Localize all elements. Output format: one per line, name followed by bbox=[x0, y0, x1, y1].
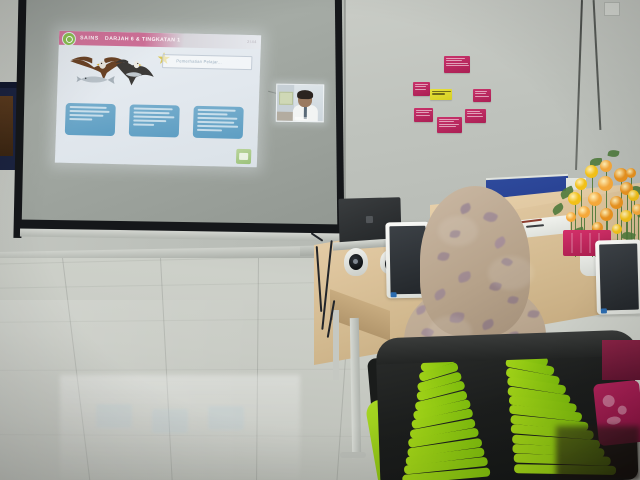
hijab-fold-highlight bbox=[488, 256, 534, 290]
content-line bbox=[197, 125, 238, 128]
note-text-line bbox=[446, 65, 469, 66]
red-storage-box bbox=[602, 340, 640, 380]
monitor-right bbox=[595, 239, 640, 314]
presenter-hair bbox=[297, 90, 313, 99]
slide-content-box-1 bbox=[65, 103, 116, 136]
monitor-badge-icon bbox=[391, 292, 397, 297]
screen-edge-left bbox=[13, 0, 26, 238]
flower-bloom bbox=[566, 212, 576, 222]
flower-bloom bbox=[588, 192, 602, 206]
video-bg-picture-frame bbox=[279, 92, 293, 105]
presenter-video-window bbox=[276, 84, 325, 123]
slide-page-number: 2/44 bbox=[247, 39, 257, 44]
note-text-line bbox=[467, 113, 482, 114]
note-text-line bbox=[416, 115, 430, 116]
note-text-line bbox=[439, 126, 456, 127]
desk-foot bbox=[340, 452, 366, 458]
content-line bbox=[197, 121, 235, 123]
eagles-illustration bbox=[67, 51, 156, 97]
slide-content-box-2 bbox=[129, 104, 180, 137]
slide-subject-label: SAINS bbox=[80, 35, 99, 41]
note-text-line bbox=[446, 58, 465, 59]
note-text-line bbox=[467, 111, 480, 112]
flower-bloom bbox=[610, 196, 623, 209]
content-line bbox=[69, 110, 110, 113]
note-text-line bbox=[415, 89, 426, 90]
sticky-note-pink-3 bbox=[473, 89, 491, 102]
note-text-line bbox=[416, 112, 429, 113]
sticky-note-pink-1 bbox=[444, 56, 470, 73]
flower-bloom bbox=[612, 224, 622, 234]
content-line bbox=[69, 118, 93, 120]
content-line bbox=[197, 117, 237, 120]
wall-socket bbox=[604, 2, 620, 16]
note-text-line bbox=[475, 96, 489, 97]
flower-bloom bbox=[575, 178, 587, 190]
content-line bbox=[197, 113, 227, 115]
flower-bloom bbox=[620, 210, 632, 222]
note-text-line bbox=[475, 91, 487, 92]
sticky-note-yellow bbox=[430, 89, 452, 100]
note-text-line bbox=[415, 86, 426, 87]
note-text-line bbox=[446, 63, 468, 64]
flower-bloom bbox=[626, 168, 636, 178]
sticky-note-pink-6 bbox=[465, 109, 486, 123]
classroom-photo-scene: SAINS DARJAH 6 & TINGKATAN 1 2/44 bbox=[0, 0, 640, 480]
note-text-line bbox=[475, 93, 486, 94]
sticky-note-pink-5 bbox=[414, 108, 433, 122]
answer-placeholder: Pemerhatian Pelajar... bbox=[176, 58, 222, 64]
sticky-note-pink-2 bbox=[413, 82, 430, 96]
screen-edge-right bbox=[335, 0, 345, 228]
note-text-line bbox=[467, 116, 483, 117]
projected-slide: SAINS DARJAH 6 & TINGKATAN 1 2/44 bbox=[55, 31, 261, 168]
note-text-line bbox=[446, 60, 462, 61]
flower-bloom bbox=[632, 204, 640, 215]
note-text-line bbox=[439, 119, 459, 120]
flower-bloom bbox=[628, 190, 639, 201]
slide-content-box-3 bbox=[193, 106, 244, 139]
flower-bloom bbox=[600, 160, 612, 172]
flower-bloom bbox=[598, 176, 613, 191]
flower-bloom bbox=[578, 206, 590, 218]
content-line bbox=[69, 114, 103, 116]
video-name-bar bbox=[295, 117, 308, 120]
flower-bloom bbox=[568, 192, 581, 205]
content-line bbox=[197, 109, 236, 111]
note-text-line bbox=[415, 84, 428, 85]
flower-bloom bbox=[585, 165, 598, 178]
content-line bbox=[133, 119, 167, 121]
content-line bbox=[133, 123, 155, 125]
desk-leg-rear bbox=[333, 310, 339, 380]
content-line bbox=[133, 111, 170, 113]
content-line bbox=[133, 107, 173, 109]
note-text-line bbox=[432, 93, 445, 94]
answer-input-field[interactable]: Pemerhatian Pelajar... bbox=[162, 54, 252, 70]
hijab-fold-highlight bbox=[438, 216, 478, 246]
note-text-line bbox=[432, 91, 451, 92]
foreground-shadow bbox=[556, 426, 640, 480]
sticky-note-pink-7 bbox=[437, 117, 462, 133]
desktop-speaker-left bbox=[344, 248, 368, 276]
content-line bbox=[133, 115, 174, 118]
flower-bloom bbox=[600, 208, 613, 221]
note-text-line bbox=[439, 124, 459, 125]
content-line bbox=[196, 129, 222, 131]
eagle-fish-svg bbox=[67, 51, 156, 97]
content-line bbox=[69, 106, 107, 108]
laptop-logo-icon bbox=[366, 216, 373, 223]
note-text-line bbox=[416, 110, 432, 111]
monitor-right-badge-icon bbox=[601, 308, 607, 313]
publisher-logo-icon bbox=[236, 149, 251, 164]
note-text-line bbox=[439, 121, 454, 122]
